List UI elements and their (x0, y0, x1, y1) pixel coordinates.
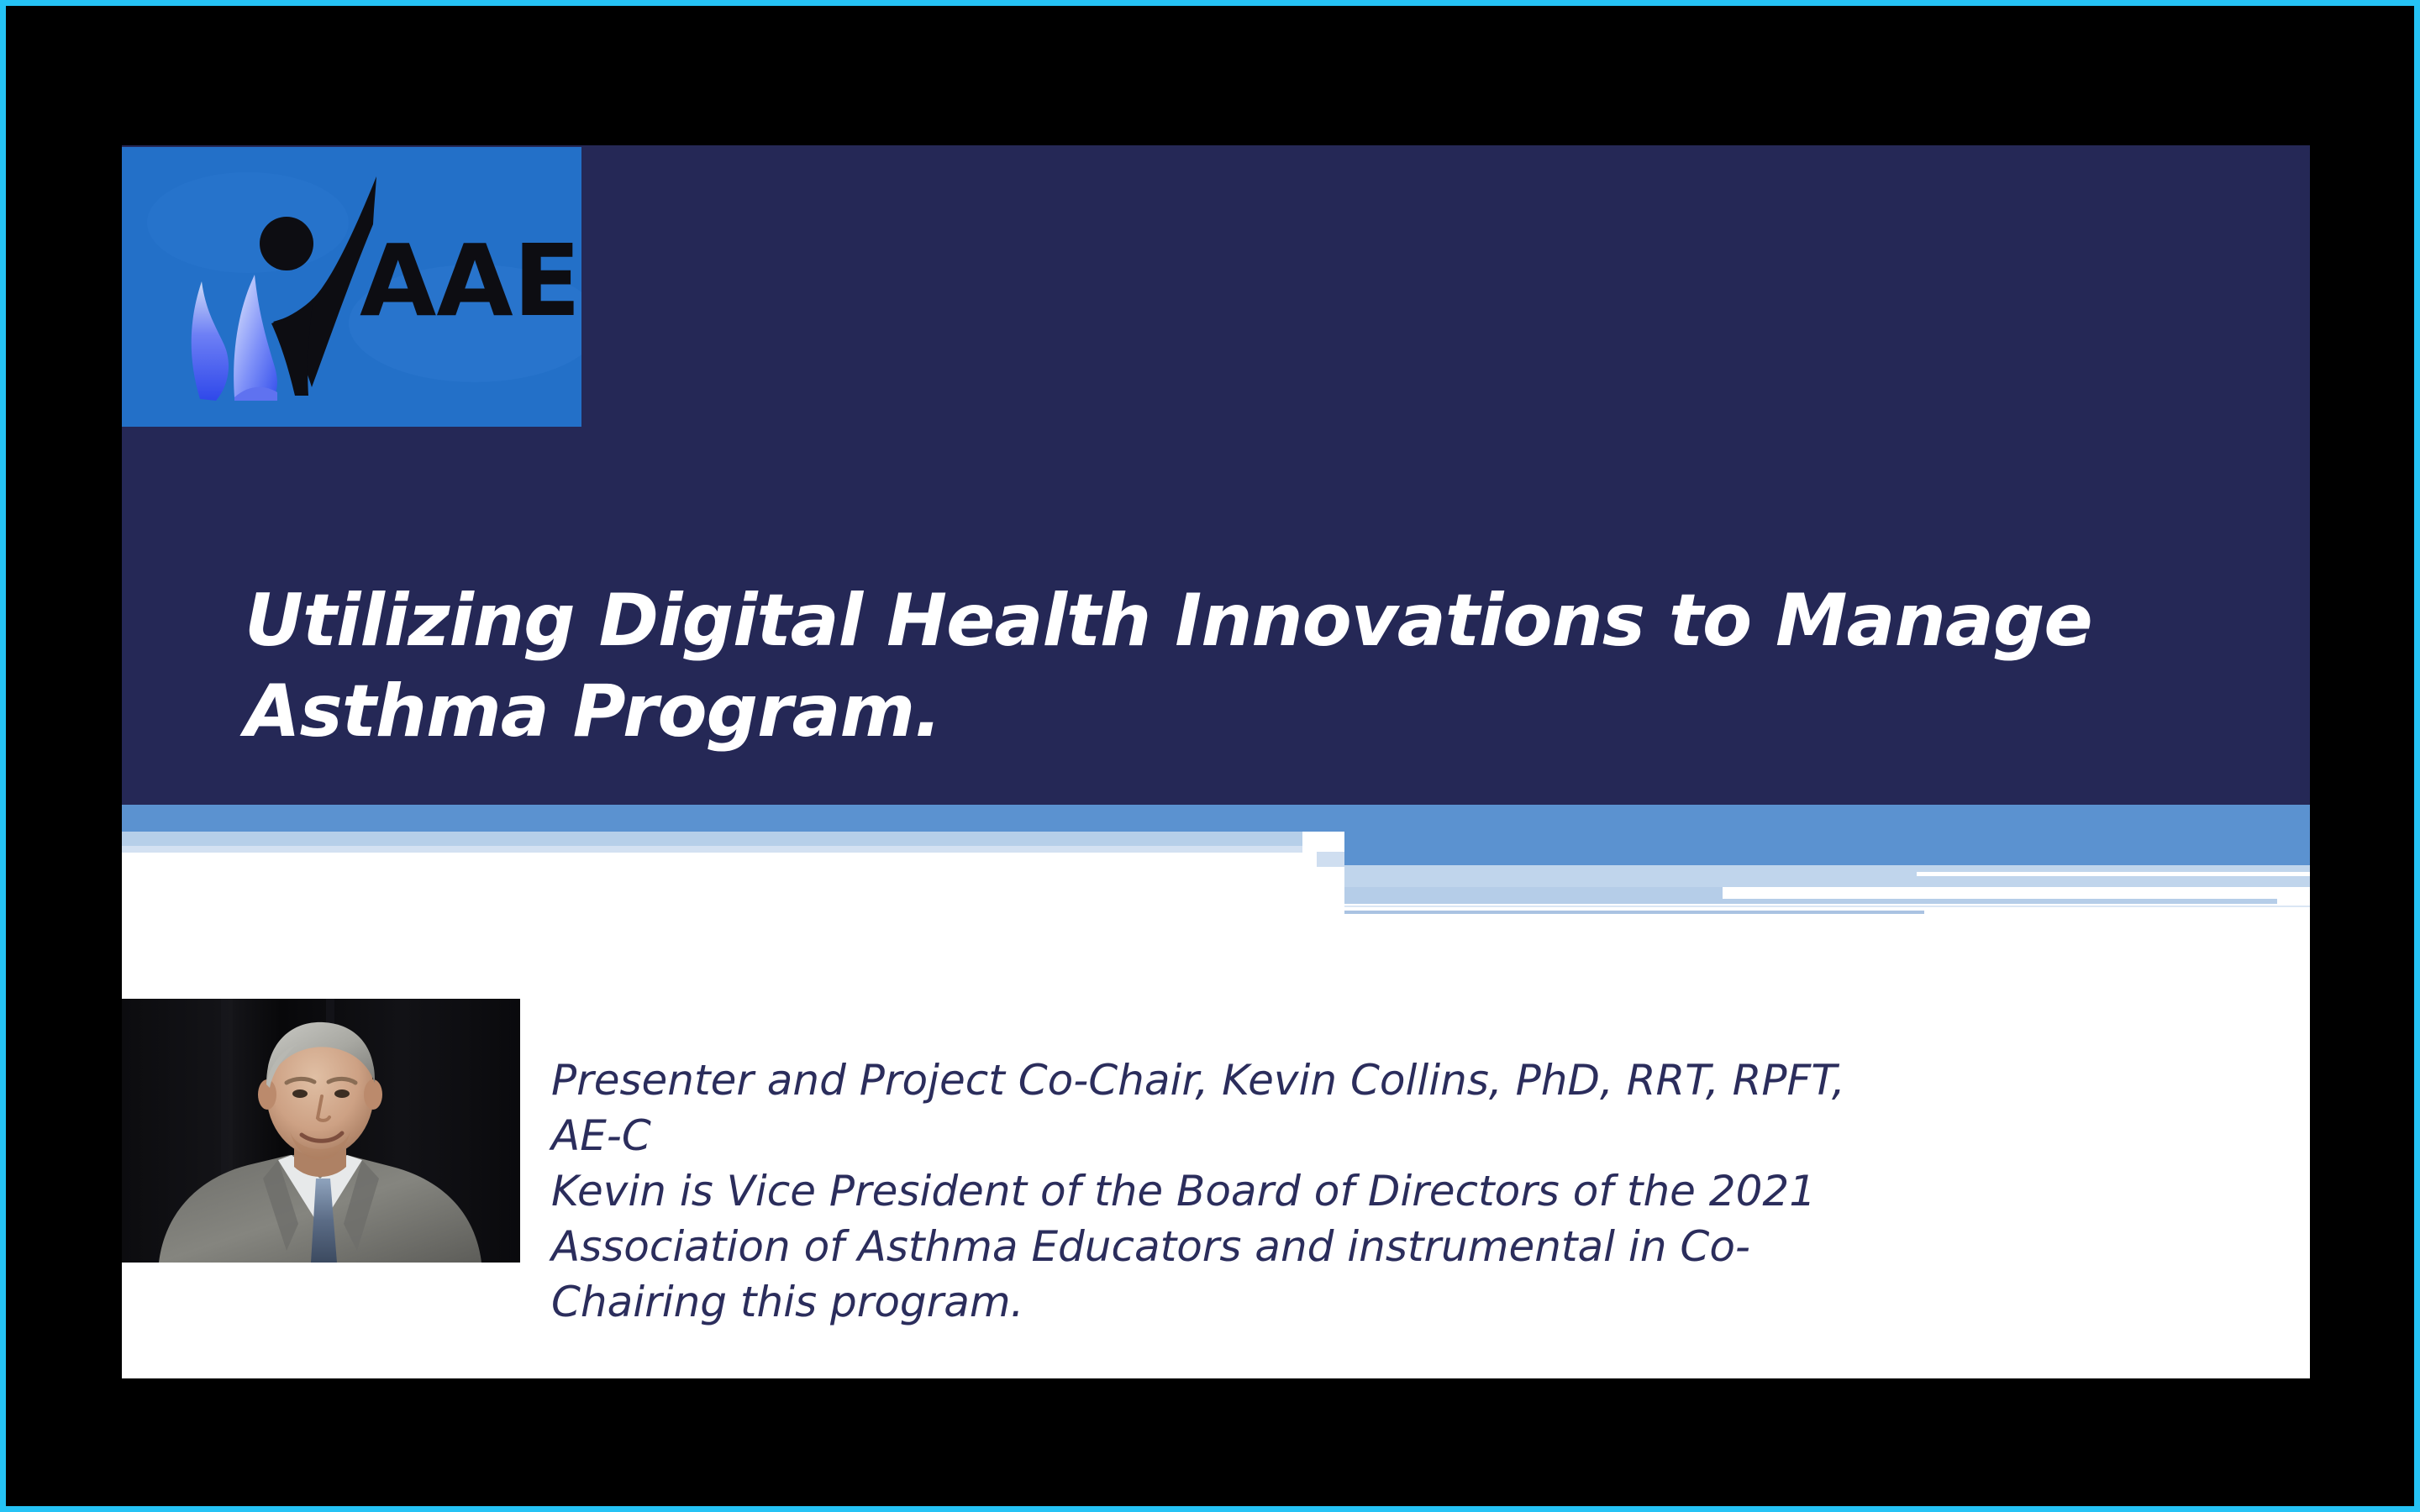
speaker-photo (122, 999, 520, 1263)
speaker-photo-image (122, 999, 520, 1263)
stripe-hairline-1 (1344, 906, 2310, 907)
decorative-stripe-band (122, 805, 2310, 914)
stripe-cut-upper (1917, 872, 2310, 876)
stripe-cut-lower (1723, 887, 2310, 899)
bio-line-4: Association of Asthma Educators and inst… (551, 1221, 2173, 1272)
presentation-slide: AAE Utilizing Digital Health Innovations… (122, 145, 2310, 1378)
aae-logo-icon: AAE (122, 147, 581, 427)
bio-line-5: Chairing this program. (551, 1277, 2173, 1327)
title-panel: AAE Utilizing Digital Health Innovations… (122, 145, 2310, 805)
content-panel: Presenter and Project Co-Chair, Kevin Co… (122, 914, 2310, 1378)
stripe-right-primary (1344, 805, 2310, 865)
stripe-left-light (122, 832, 1302, 846)
bio-line-1: Presenter and Project Co-Chair, Kevin Co… (551, 1055, 2173, 1105)
speaker-bio: Presenter and Project Co-Chair, Kevin Co… (551, 1055, 2173, 1332)
bio-line-3: Kevin is Vice President of the Board of … (551, 1166, 2173, 1216)
bio-line-2: AE-C (551, 1110, 2173, 1161)
video-frame: AAE Utilizing Digital Health Innovations… (0, 0, 2420, 1512)
aae-logo: AAE (122, 147, 581, 427)
stripe-notch (1317, 852, 1344, 867)
slide-title: Utilizing Digital Health Innovations to … (245, 575, 2194, 758)
stripe-left-light-thin (122, 846, 1302, 853)
aae-logo-text: AAE (360, 223, 581, 339)
stripe-cut-tail (2277, 899, 2310, 906)
stripe-left-primary (122, 805, 1344, 832)
stripe-right-light (1344, 865, 2310, 887)
